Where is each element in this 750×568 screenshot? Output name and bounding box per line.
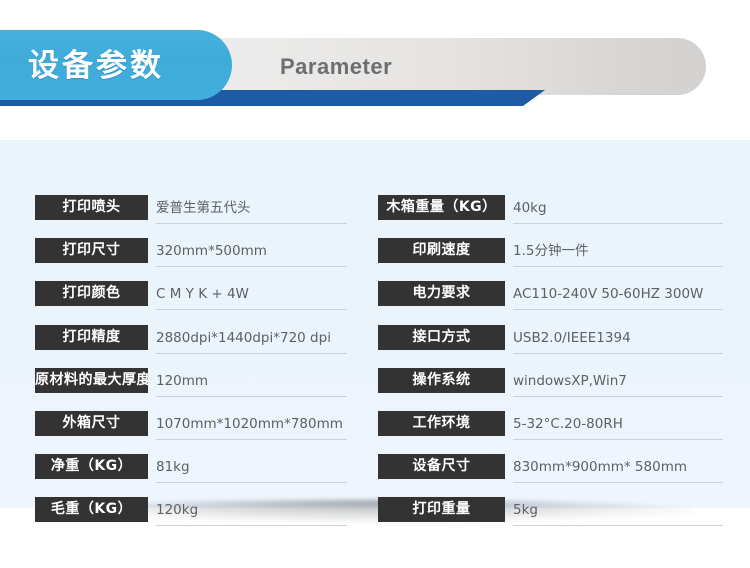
spec-label: 接口方式 bbox=[378, 325, 505, 350]
spec-value: 2880dpi*1440dpi*720 dpi bbox=[156, 325, 331, 350]
spec-underline bbox=[513, 309, 723, 310]
spec-label: 打印颜色 bbox=[35, 281, 148, 306]
spec-underline bbox=[156, 223, 347, 224]
spec-underline bbox=[156, 396, 347, 397]
spec-underline bbox=[513, 439, 723, 440]
spec-label: 原材料的最大厚度 bbox=[35, 368, 148, 393]
spec-value: 5-32°C.20-80RH bbox=[513, 411, 623, 436]
spec-underline bbox=[513, 482, 723, 483]
spec-label: 打印精度 bbox=[35, 325, 148, 350]
spec-value: 1.5分钟一件 bbox=[513, 238, 588, 263]
spec-value: C M Y K + 4W bbox=[156, 281, 249, 306]
spec-value: 爱普生第五代头 bbox=[156, 195, 251, 220]
spec-row: 打印精度2880dpi*1440dpi*720 dpi bbox=[35, 325, 347, 368]
spec-value: 120kg bbox=[156, 497, 198, 522]
spec-underline bbox=[513, 223, 723, 224]
spec-value: 320mm*500mm bbox=[156, 238, 267, 263]
spec-row: 净重（KG）81kg bbox=[35, 454, 347, 497]
page-title: 设备参数 bbox=[28, 48, 164, 84]
spec-value: windowsXP,Win7 bbox=[513, 368, 627, 393]
spec-underline bbox=[513, 266, 723, 267]
spec-value: 40kg bbox=[513, 195, 547, 220]
spec-row: 操作系统windowsXP,Win7 bbox=[378, 368, 723, 411]
spec-underline bbox=[156, 266, 347, 267]
spec-underline bbox=[156, 353, 347, 354]
spec-row: 电力要求AC110-240V 50-60HZ 300W bbox=[378, 281, 723, 324]
spec-row: 接口方式USB2.0/IEEE1394 bbox=[378, 325, 723, 368]
spec-row: 设备尺寸830mm*900mm* 580mm bbox=[378, 454, 723, 497]
spec-row: 打印喷头爱普生第五代头 bbox=[35, 195, 347, 238]
spec-label: 电力要求 bbox=[378, 281, 505, 306]
spec-value: AC110-240V 50-60HZ 300W bbox=[513, 281, 703, 306]
spec-label: 毛重（KG） bbox=[35, 497, 148, 522]
spec-label: 打印重量 bbox=[378, 497, 505, 522]
spec-underline bbox=[156, 525, 347, 526]
spec-label: 打印喷头 bbox=[35, 195, 148, 220]
spec-label: 工作环境 bbox=[378, 411, 505, 436]
spec-label: 操作系统 bbox=[378, 368, 505, 393]
spec-label: 印刷速度 bbox=[378, 238, 505, 263]
header-subtitle: Parameter bbox=[280, 52, 392, 82]
spec-value: 120mm bbox=[156, 368, 208, 393]
page-header: Parameter 设备参数 bbox=[0, 0, 750, 110]
spec-row: 外箱尺寸1070mm*1020mm*780mm bbox=[35, 411, 347, 454]
spec-row: 毛重（KG）120kg bbox=[35, 497, 347, 540]
spec-row: 工作环境5-32°C.20-80RH bbox=[378, 411, 723, 454]
spec-value: 81kg bbox=[156, 454, 190, 479]
spec-row: 打印重量5kg bbox=[378, 497, 723, 540]
spec-label: 木箱重量（KG） bbox=[378, 195, 505, 220]
spec-value: USB2.0/IEEE1394 bbox=[513, 325, 631, 350]
spec-underline bbox=[513, 396, 723, 397]
spec-value: 1070mm*1020mm*780mm bbox=[156, 411, 343, 436]
spec-row: 印刷速度1.5分钟一件 bbox=[378, 238, 723, 281]
spec-label: 净重（KG） bbox=[35, 454, 148, 479]
spec-value: 5kg bbox=[513, 497, 538, 522]
spec-row: 木箱重量（KG）40kg bbox=[378, 195, 723, 238]
spec-label: 外箱尺寸 bbox=[35, 411, 148, 436]
spec-column-right: 木箱重量（KG）40kg印刷速度1.5分钟一件电力要求AC110-240V 50… bbox=[378, 195, 723, 541]
spec-column-left: 打印喷头爱普生第五代头打印尺寸320mm*500mm打印颜色C M Y K + … bbox=[35, 195, 347, 541]
spec-underline bbox=[156, 309, 347, 310]
spec-underline bbox=[156, 482, 347, 483]
spec-row: 打印尺寸320mm*500mm bbox=[35, 238, 347, 281]
spec-underline bbox=[513, 525, 723, 526]
spec-row: 打印颜色C M Y K + 4W bbox=[35, 281, 347, 324]
spec-row: 原材料的最大厚度120mm bbox=[35, 368, 347, 411]
spec-value: 830mm*900mm* 580mm bbox=[513, 454, 687, 479]
spec-label: 设备尺寸 bbox=[378, 454, 505, 479]
spec-underline bbox=[156, 439, 347, 440]
spec-tables: 打印喷头爱普生第五代头打印尺寸320mm*500mm打印颜色C M Y K + … bbox=[0, 195, 750, 485]
spec-label: 打印尺寸 bbox=[35, 238, 148, 263]
spec-underline bbox=[513, 353, 723, 354]
